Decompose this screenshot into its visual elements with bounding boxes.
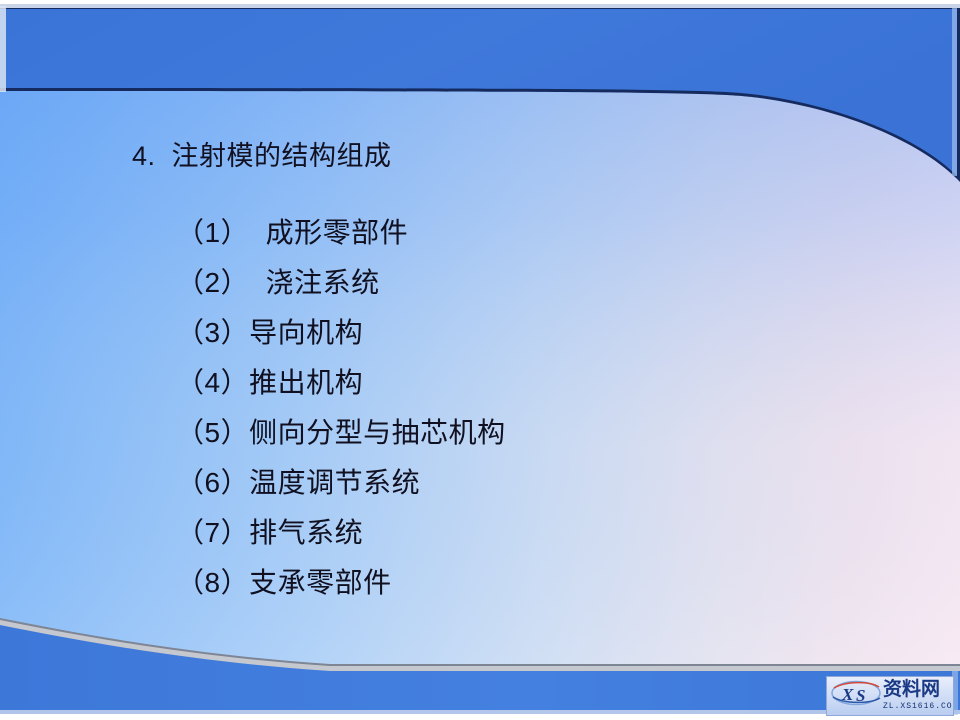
bullet-list: （1） 成形零部件 （2） 浇注系统 （3）导向机构 （4）推出机构 （5）侧向… (176, 208, 936, 608)
watermark-url: ZL.XS1616.COM (883, 701, 954, 712)
xs-monogram-icon: X S (830, 680, 882, 706)
list-item: （6）温度调节系统 (176, 458, 936, 508)
list-item: （8）支承零部件 (176, 558, 936, 608)
svg-text:X: X (841, 685, 854, 704)
list-item: （7）排气系统 (176, 508, 936, 558)
page-title: 4. 注射模的结构组成 (132, 139, 392, 173)
list-item: （3）导向机构 (176, 308, 936, 358)
watermark-logo: X S 资料网 ZL.XS1616.COM (826, 676, 954, 716)
list-item: （1） 成形零部件 (176, 208, 936, 258)
list-item: （4）推出机构 (176, 358, 936, 408)
list-item: （2） 浇注系统 (176, 258, 936, 308)
svg-text:S: S (856, 686, 865, 705)
list-item: （5）侧向分型与抽芯机构 (176, 408, 936, 458)
slide-canvas: 4. 注射模的结构组成 （1） 成形零部件 （2） 浇注系统 （3）导向机构 （… (0, 0, 960, 720)
slide-content: 4. 注射模的结构组成 （1） 成形零部件 （2） 浇注系统 （3）导向机构 （… (0, 0, 960, 720)
watermark-brand: 资料网 (883, 678, 940, 701)
